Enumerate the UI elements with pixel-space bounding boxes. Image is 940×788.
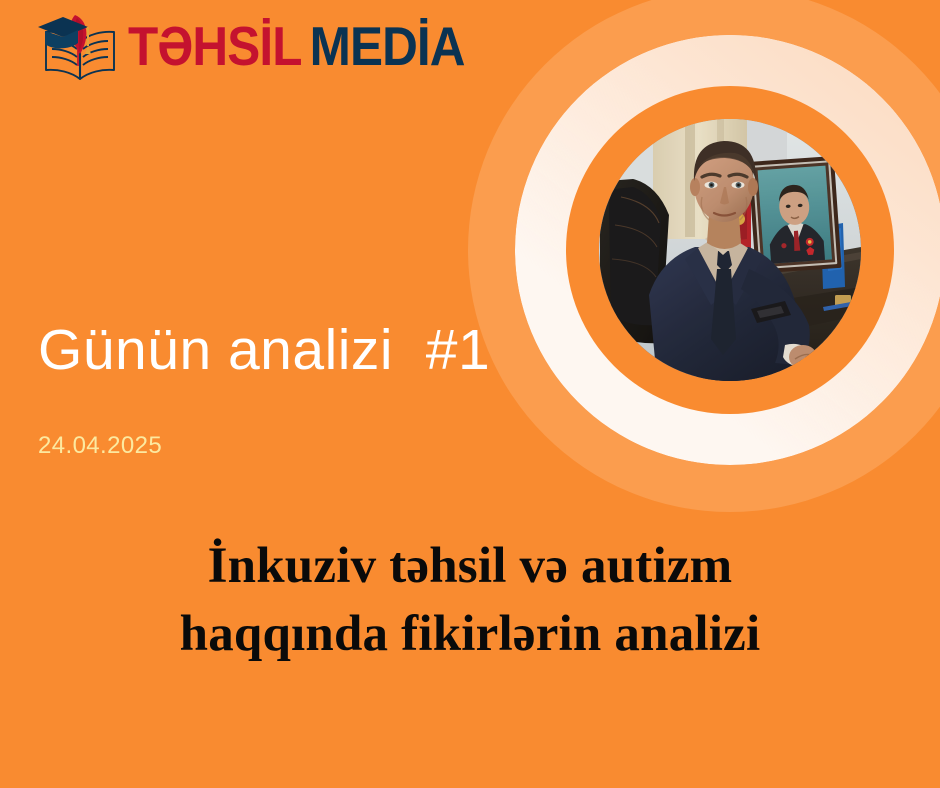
- page-title: İnkuziv təhsil və autizm haqqında fikirl…: [70, 533, 870, 669]
- portrait-photo: [599, 119, 861, 381]
- brand-logo[interactable]: TƏHSİLMEDİA: [30, 8, 502, 84]
- brand-word-media: MEDİA: [310, 15, 465, 77]
- headline-line-1: İnkuziv təhsil və autizm: [70, 533, 870, 601]
- kicker-text: Günün analizi #1: [38, 322, 490, 379]
- publication-date: 24.04.2025: [38, 434, 162, 458]
- poster-canvas: TƏHSİLMEDİA Günün analizi #1 24.04.2025 …: [0, 0, 940, 788]
- brand-word-tehsil: TƏHSİL: [128, 15, 302, 77]
- graduation-cap-quill-book-icon: [30, 8, 134, 84]
- headline-line-2: haqqında fikirlərin analizi: [70, 601, 870, 669]
- brand-wordmark: TƏHSİLMEDİA: [128, 19, 465, 74]
